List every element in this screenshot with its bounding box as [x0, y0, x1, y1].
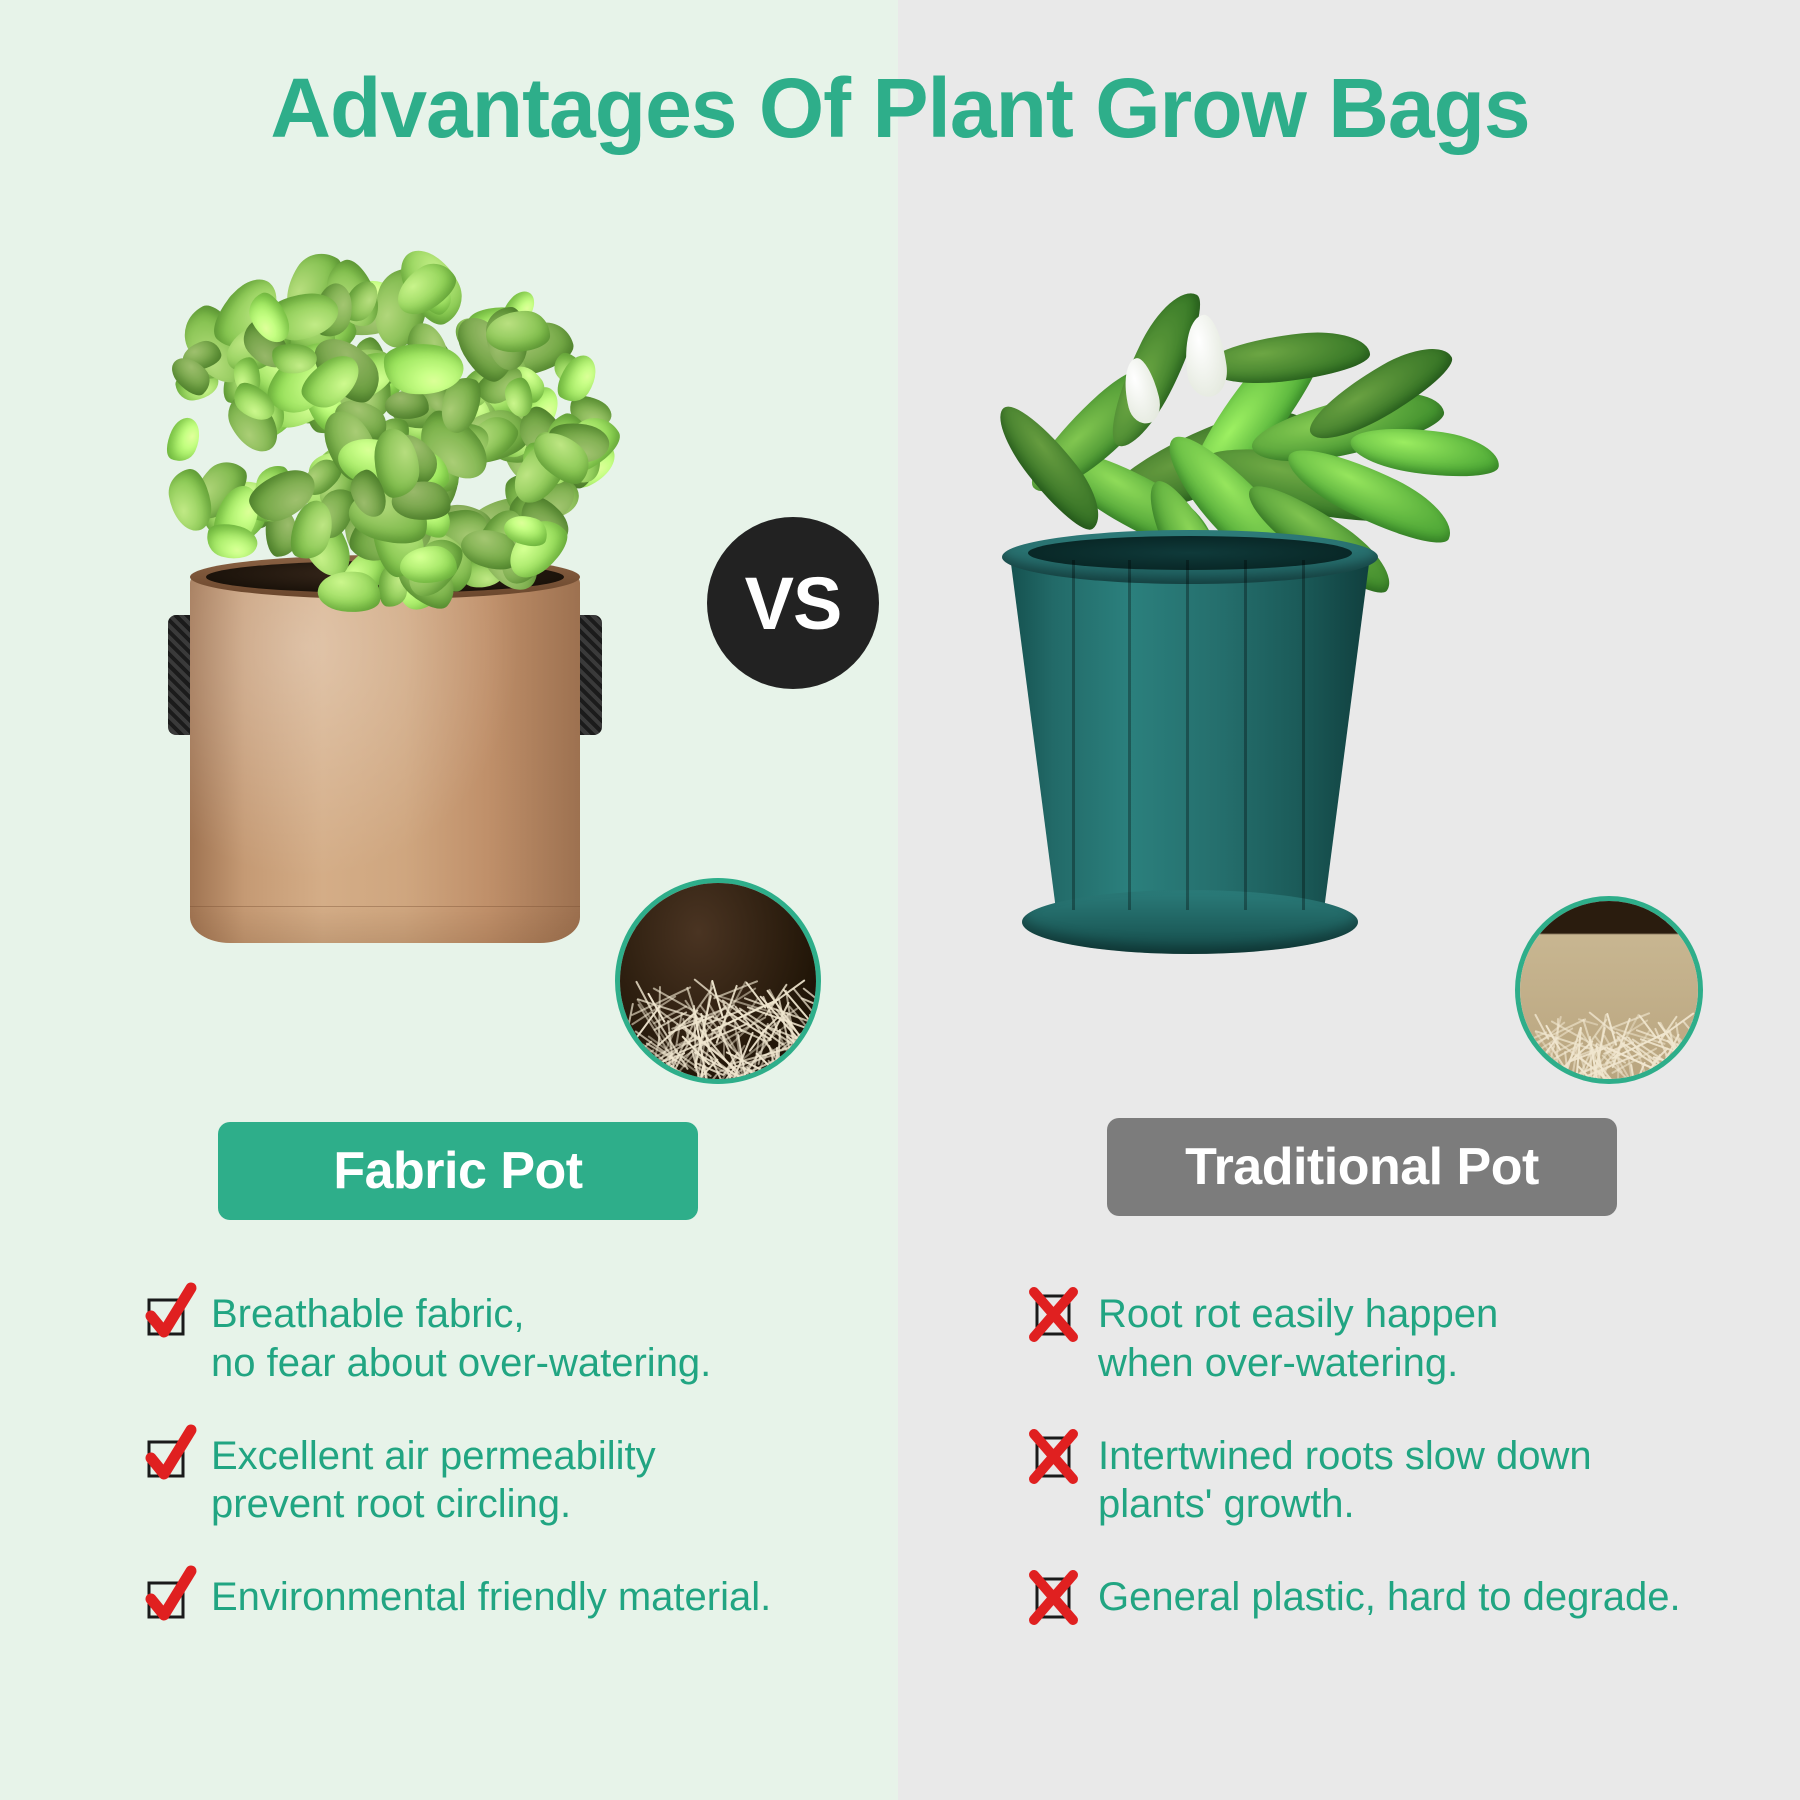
list-item: Intertwined roots slow down plants' grow… — [1032, 1432, 1772, 1530]
list-item-label: Breathable fabric, no fear about over-wa… — [211, 1290, 711, 1388]
circling-root-closeup-icon — [1515, 896, 1703, 1084]
plastic-pot-icon — [1010, 530, 1370, 950]
traditional-pot-illustration — [920, 200, 1680, 1000]
list-item-label: General plastic, hard to degrade. — [1098, 1573, 1681, 1622]
list-item: Root rot easily happen when over-waterin… — [1032, 1290, 1772, 1388]
plastic-pot-rib — [1072, 560, 1075, 910]
healthy-root-closeup-icon — [615, 878, 821, 1084]
basil-plant-icon — [130, 220, 640, 580]
plastic-pot-rib — [1302, 560, 1305, 910]
list-item-label: Intertwined roots slow down plants' grow… — [1098, 1432, 1592, 1530]
fabric-pot-advantage-list: Breathable fabric, no fear about over-wa… — [145, 1290, 865, 1667]
plastic-pot-rib — [1186, 560, 1189, 910]
cross-mark-icon — [1032, 1438, 1076, 1482]
list-item-label: Environmental friendly material. — [211, 1573, 771, 1622]
list-item: Environmental friendly material. — [145, 1573, 865, 1623]
cross-mark-icon — [1032, 1296, 1076, 1340]
traditional-pot-label-badge: Traditional Pot — [1107, 1118, 1617, 1216]
list-item-label: Root rot easily happen when over-waterin… — [1098, 1290, 1498, 1388]
check-mark-icon — [145, 1579, 189, 1623]
comparison-infographic: Advantages Of Plant Grow Bags VS Fabr — [0, 0, 1800, 1800]
list-item: General plastic, hard to degrade. — [1032, 1573, 1772, 1623]
page-title: Advantages Of Plant Grow Bags — [0, 66, 1800, 150]
cross-mark-icon — [1032, 1579, 1076, 1623]
vs-badge: VS — [707, 517, 879, 689]
plastic-pot-body — [1010, 556, 1370, 916]
list-item: Breathable fabric, no fear about over-wa… — [145, 1290, 865, 1388]
check-mark-icon — [145, 1296, 189, 1340]
basil-leaf-icon — [160, 413, 207, 467]
fabric-pot-label-badge: Fabric Pot — [218, 1122, 698, 1220]
list-item: Excellent air permeability prevent root … — [145, 1432, 865, 1530]
plastic-pot-rib — [1128, 560, 1131, 910]
check-mark-icon — [145, 1438, 189, 1482]
fabric-grow-bag-icon — [190, 555, 580, 945]
plastic-pot-rib — [1244, 560, 1247, 910]
peace-lily-leaf-icon — [1203, 327, 1372, 390]
grow-bag-body — [190, 573, 580, 943]
list-item-label: Excellent air permeability prevent root … — [211, 1432, 656, 1530]
traditional-pot-disadvantage-list: Root rot easily happen when over-waterin… — [1032, 1290, 1772, 1667]
